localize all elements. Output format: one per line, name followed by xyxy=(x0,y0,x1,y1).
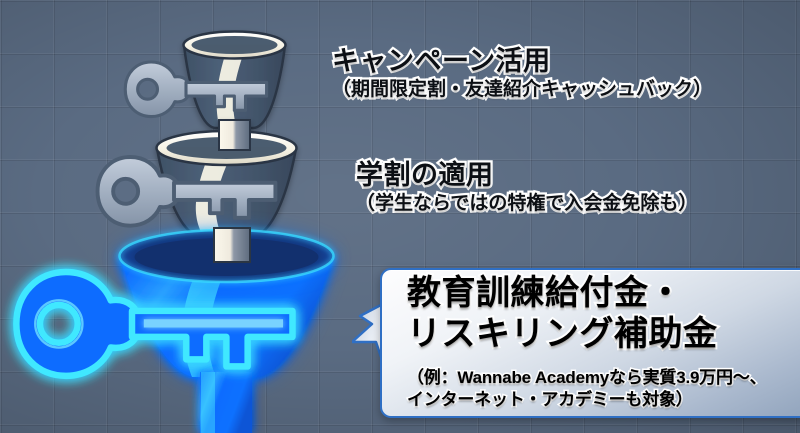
callout-title-line2: リスキリング補助金 xyxy=(407,314,718,355)
callout-note-line2: インターネット・アカデミーも対象） xyxy=(407,389,766,411)
infographic-canvas: キャンペーン活用 （期間限定割・友達紹介キャッシュバック） 学割の適用 （学生な… xyxy=(0,0,800,433)
stage-subtitle: （学生ならではの特権で入会金免除も） xyxy=(356,193,697,214)
key-icon xyxy=(98,157,276,226)
stage-label-campaign: キャンペーン活用 （期間限定割・友達紹介キャッシュバック） xyxy=(332,46,712,101)
stage-subtitle: （期間限定割・友達紹介キャッシュバック） xyxy=(332,79,712,100)
callout-title: 教育訓練給付金・ リスキリング補助金 xyxy=(407,273,718,356)
stage-title: 学割の適用 xyxy=(356,160,697,190)
stage-title: キャンペーン活用 xyxy=(332,46,712,76)
callout-title-line1: 教育訓練給付金・ xyxy=(407,273,718,314)
key-icon xyxy=(125,62,266,117)
stage-label-student-discount: 学割の適用 （学生ならではの特権で入会金免除も） xyxy=(356,160,697,215)
callout-subsidy: 教育訓練給付金・ リスキリング補助金 （例：Wannabe Academyなら実… xyxy=(352,268,800,418)
callout-note: （例：Wannabe Academyなら実質3.9万円〜、 インターネット・アカ… xyxy=(407,367,766,411)
callout-note-line1: （例：Wannabe Academyなら実質3.9万円〜、 xyxy=(407,367,766,389)
key-icon xyxy=(16,272,292,376)
